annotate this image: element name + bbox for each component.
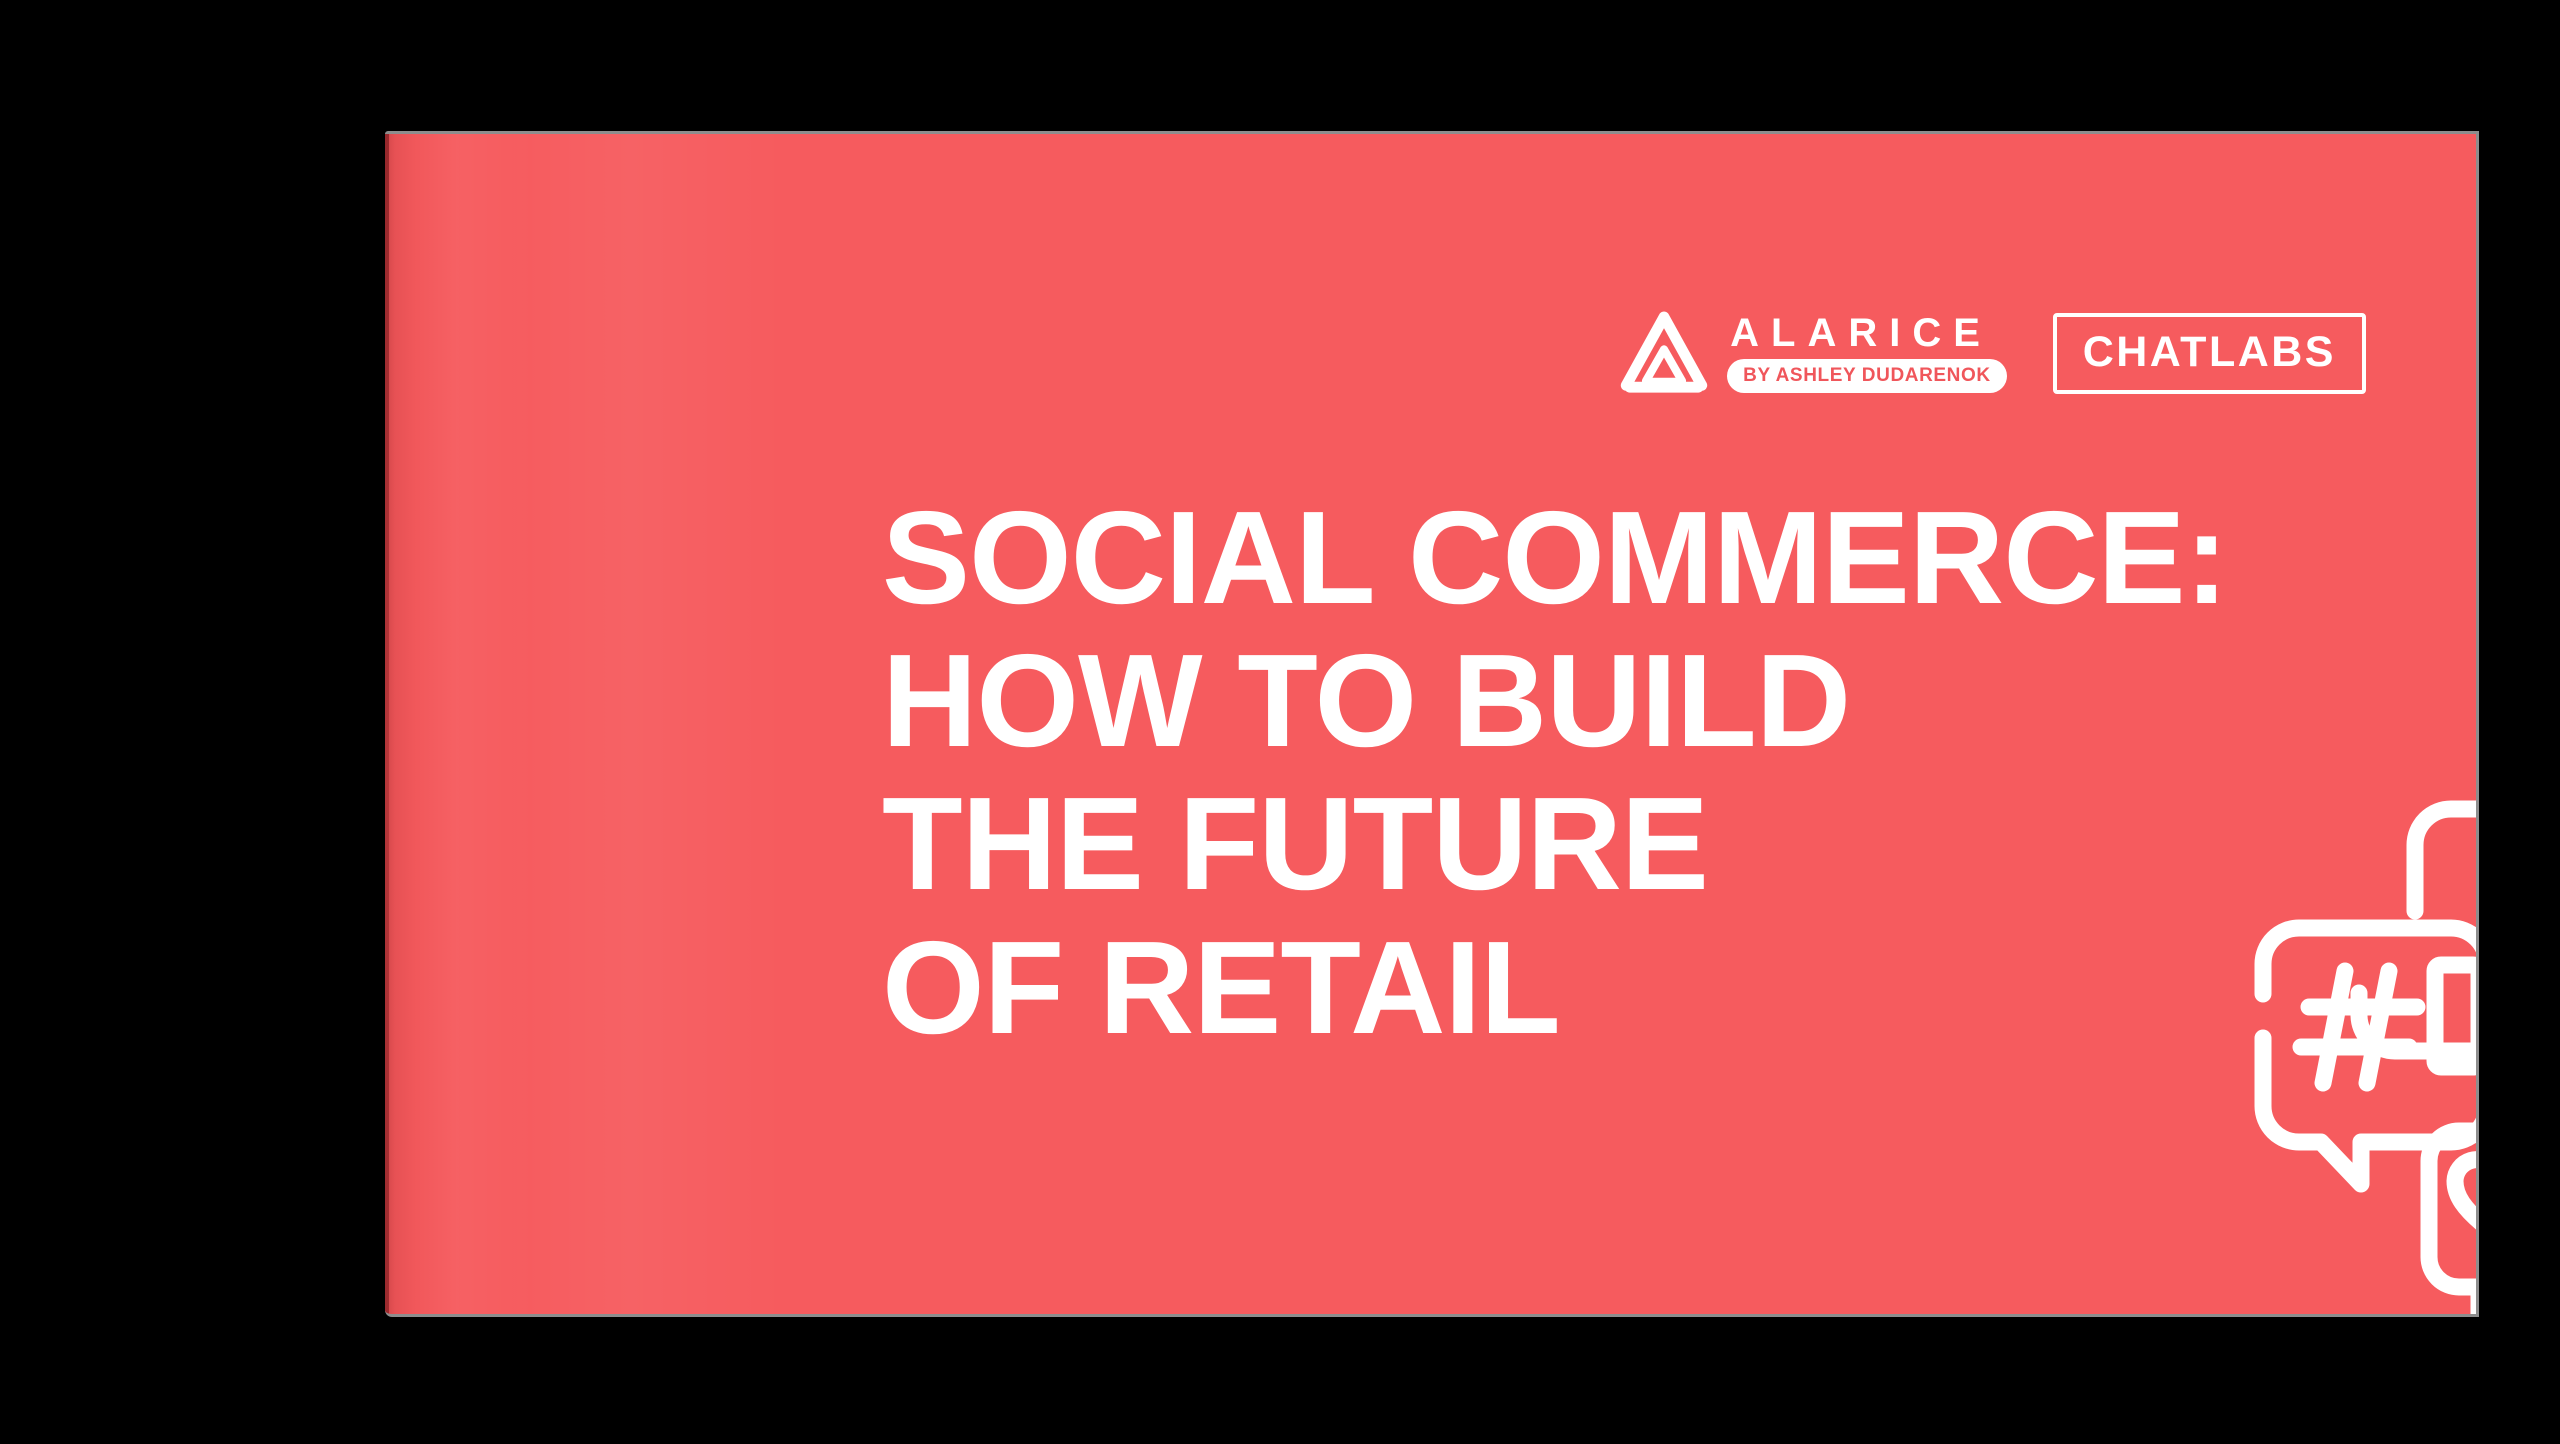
title-line-4: OF RETAIL [882, 916, 2302, 1059]
cover-sheen-highlight [505, 134, 785, 1314]
cover-title: SOCIAL COMMERCE: HOW TO BUILD THE FUTURE… [882, 486, 2302, 1059]
book-spine-shading [385, 134, 535, 1314]
alarice-byline-badge: BY ASHLEY DUDARENOK [1727, 359, 2007, 393]
social-engagement-illustration [2223, 779, 2479, 1317]
title-line-2: HOW TO BUILD [882, 629, 2302, 772]
book-spine-edge [385, 134, 389, 1314]
cover-subtitle: LESSONS FOR 'AND FROM CHINA [882, 1312, 1672, 1317]
screenshot-canvas: ALARICE BY ASHLEY DUDARENOK CHATLABS SOC… [0, 0, 2560, 1444]
heart-bubble [2429, 1131, 2479, 1317]
title-line-1: SOCIAL COMMERCE: [882, 486, 2302, 629]
title-line-3: THE FUTURE [882, 772, 2302, 915]
chatlabs-logo[interactable]: CHATLABS [2053, 313, 2366, 394]
alarice-wordmark: ALARICE [1727, 313, 1992, 353]
alarice-text-block: ALARICE BY ASHLEY DUDARENOK [1727, 313, 2007, 393]
brand-logo-row: ALARICE BY ASHLEY DUDARENOK CHATLABS [1619, 309, 2366, 397]
ebook-cover: ALARICE BY ASHLEY DUDARENOK CHATLABS SOC… [385, 131, 2479, 1317]
alarice-triangle-icon [1619, 309, 1709, 397]
alarice-logo[interactable]: ALARICE BY ASHLEY DUDARENOK [1619, 309, 2007, 397]
